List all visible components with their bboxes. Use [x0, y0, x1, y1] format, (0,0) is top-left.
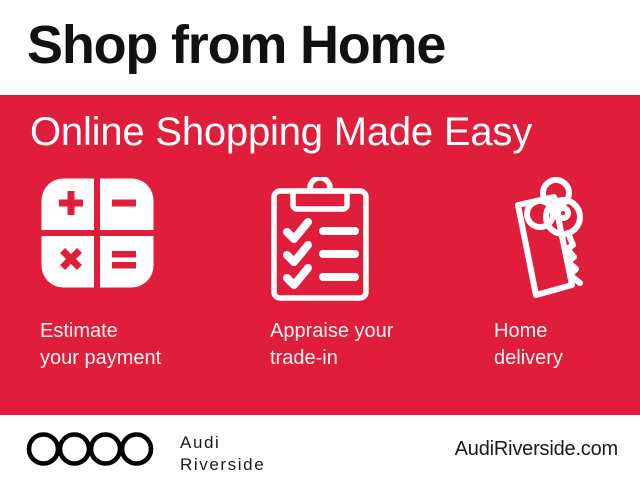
dealer-name: Audi Riverside	[180, 432, 265, 476]
feature-estimate-payment: Estimate your payment	[28, 175, 238, 405]
footer-bar: Audi Riverside AudiRiverside.com	[0, 415, 640, 480]
page-title: Shop from Home	[27, 13, 445, 77]
feature-caption: Estimate your payment	[40, 318, 240, 372]
promo-banner: Online Shopping Made Easy	[0, 95, 640, 415]
feature-appraise-trade-in: Appraise your trade-in	[258, 175, 468, 405]
clipboard-checklist-icon	[270, 177, 400, 305]
shop-from-home-ad: Shop from Home Online Shopping Made Easy	[0, 0, 640, 480]
calculator-icon	[40, 177, 170, 305]
feature-list: Estimate your payment	[0, 175, 640, 405]
car-keys-tag-icon	[494, 177, 606, 305]
banner-subheadline: Online Shopping Made Easy	[30, 108, 532, 156]
feature-caption: Home delivery	[494, 318, 640, 372]
feature-home-delivery: Home delivery	[482, 175, 640, 405]
audi-four-rings-logo	[26, 432, 154, 471]
website-url[interactable]: AudiRiverside.com	[455, 438, 618, 461]
feature-caption: Appraise your trade-in	[270, 318, 470, 372]
header-bar: Shop from Home	[0, 0, 640, 95]
